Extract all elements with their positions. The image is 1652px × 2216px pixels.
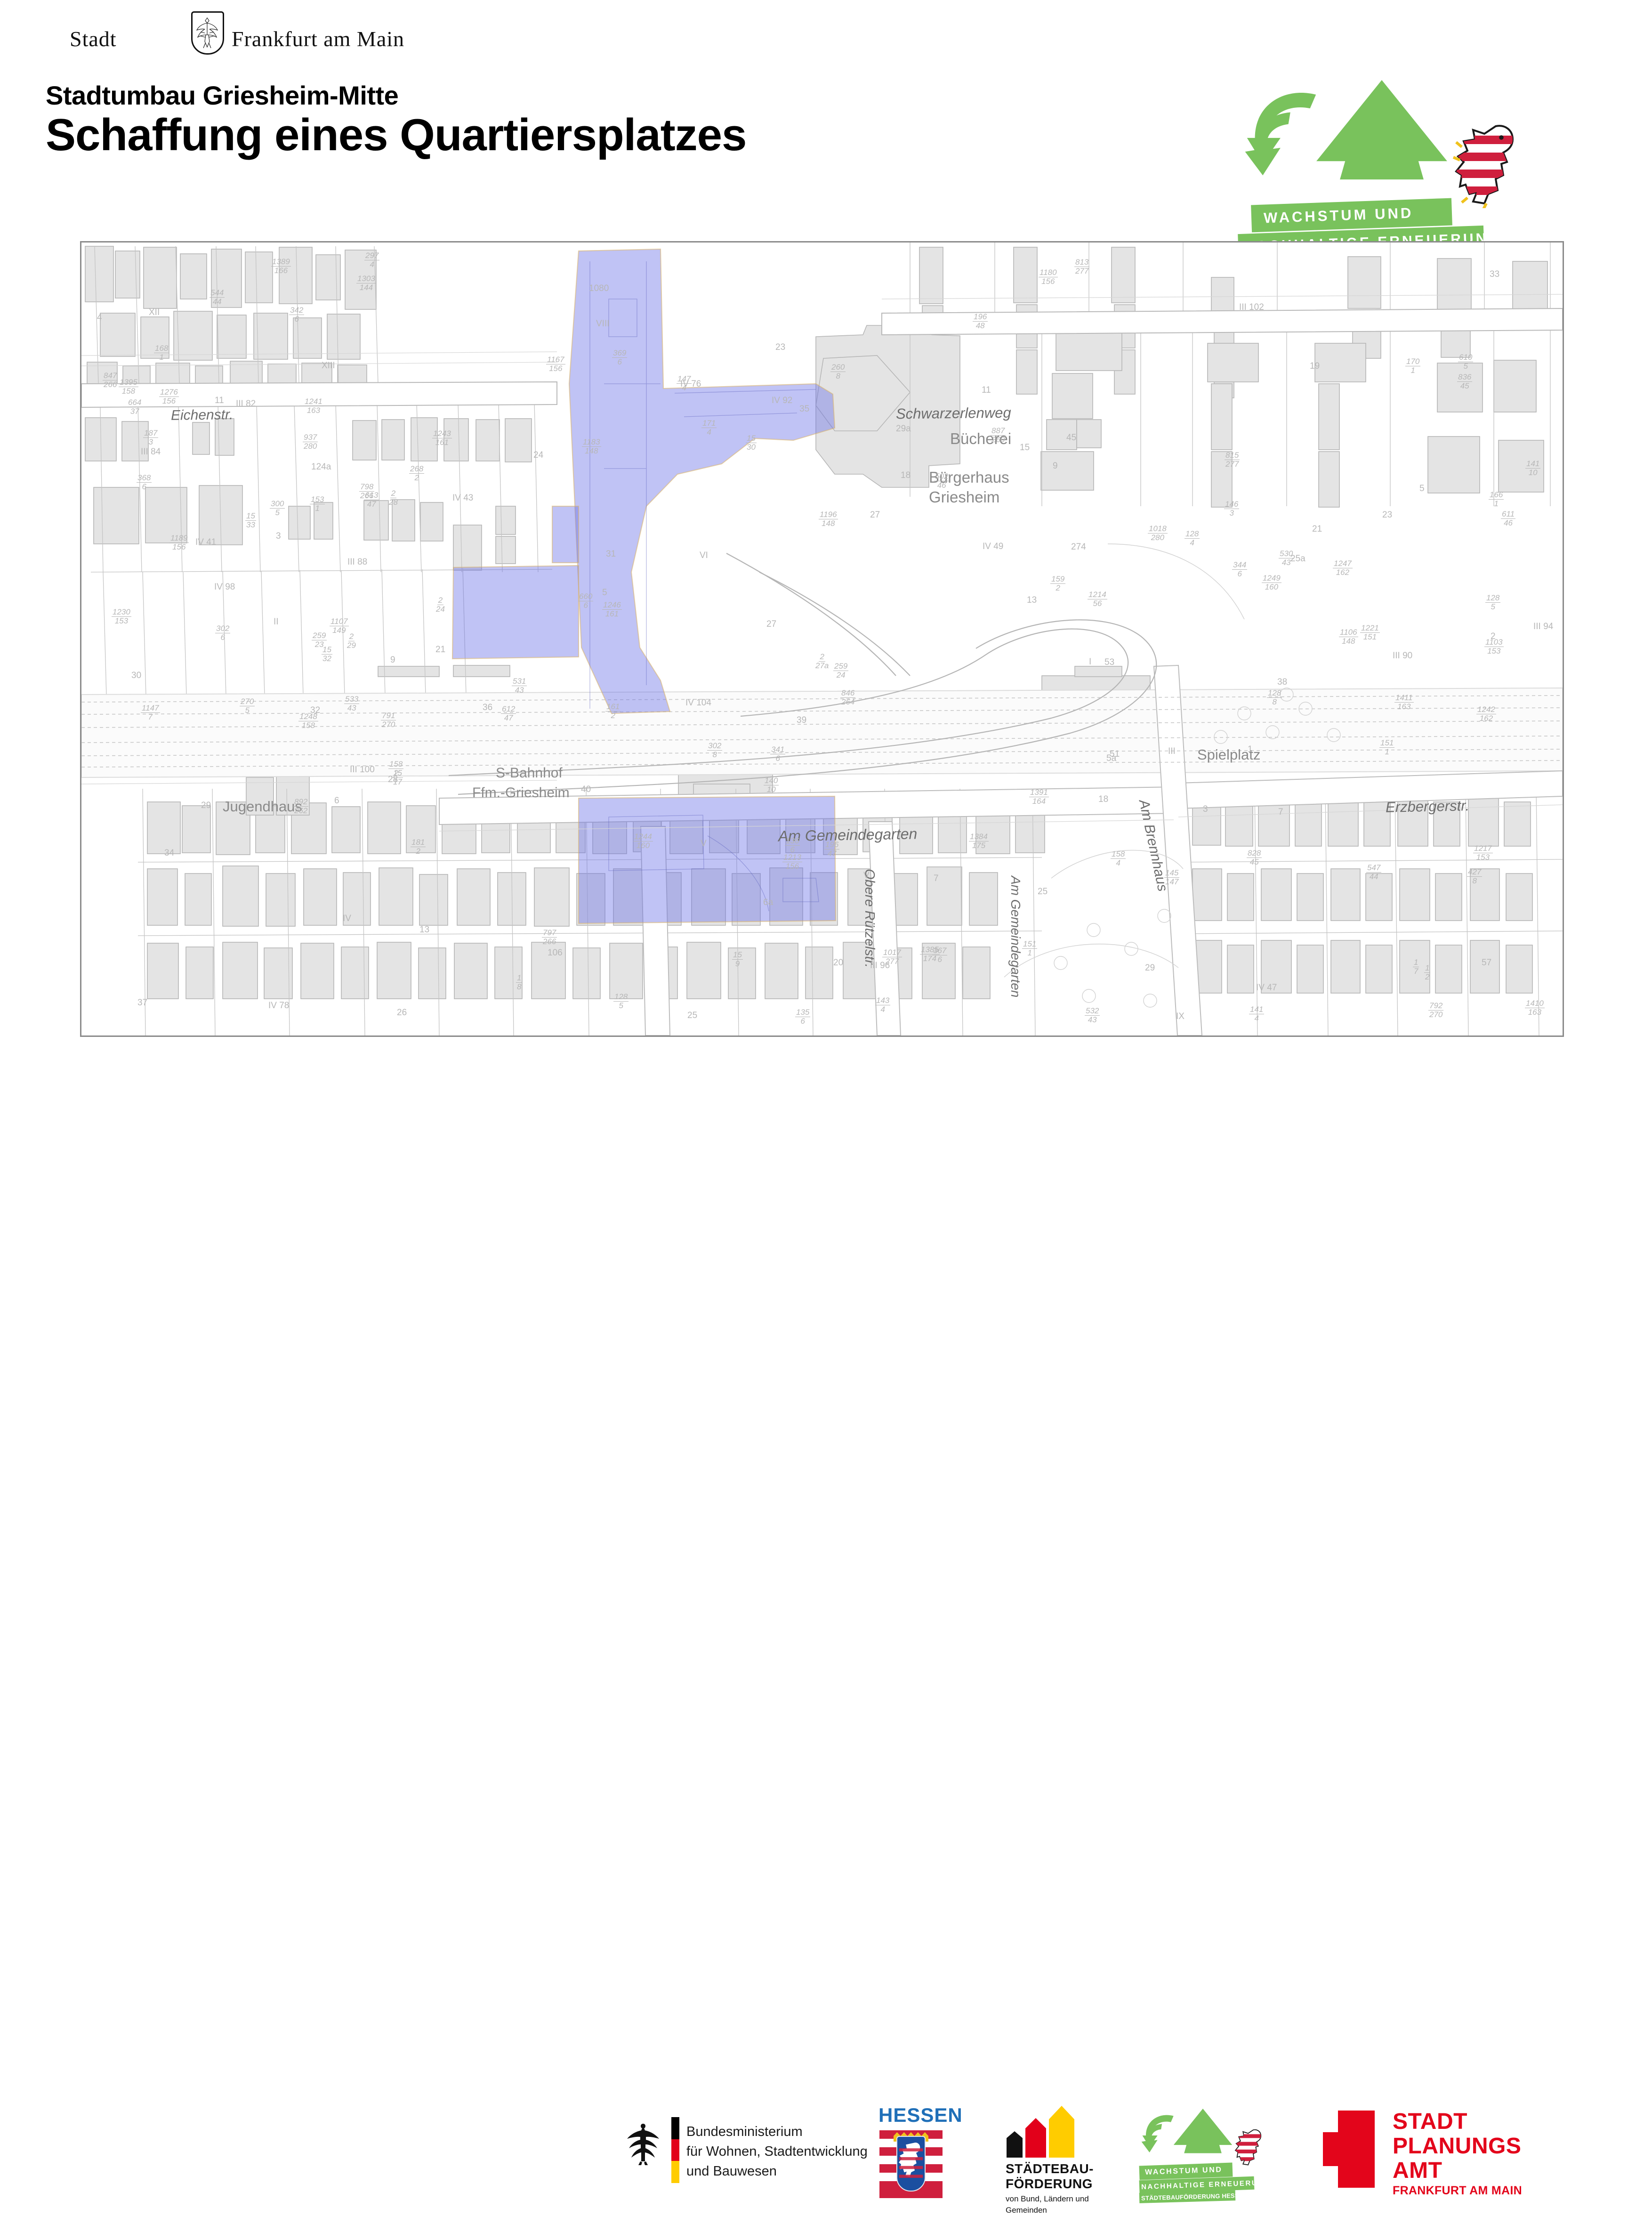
- bmwsb-line-3: und Bauwesen: [686, 2161, 868, 2181]
- wachstum-band-3-footer: STÄDTEBAUFÖRDERUNG HESSEN: [1139, 2190, 1236, 2203]
- house-icon-black: [1007, 2131, 1023, 2158]
- hessen-lion-icon: [1452, 119, 1518, 208]
- hessen-logo: HESSEN: [876, 2104, 970, 2198]
- street-label-erzbergerstr: Erzbergerstr.: [1386, 797, 1470, 816]
- spa-line-1: STADT: [1393, 2109, 1467, 2135]
- spa-line-2: PLANUNGS: [1393, 2133, 1521, 2159]
- stadtplanungsamt-logo: STADT PLANUNGS AMT FRANKFURT AM MAIN: [1323, 2111, 1568, 2200]
- staedtebau-subline: von Bund, Ländern und Gemeinden: [1006, 2193, 1089, 2216]
- staedtebau-sub-1: von Bund, Ländern und: [1006, 2193, 1089, 2205]
- page-title: Schaffung eines Quartiersplatzes: [46, 109, 746, 161]
- stadtplanungsamt-mark-icon: [1323, 2111, 1375, 2188]
- bmwsb-logo: Bundesministerium für Wohnen, Stadtentwi…: [626, 2115, 852, 2186]
- page-header: Stadt Frankfurt am Main Stadtum: [0, 0, 1652, 235]
- bmwsb-line-1: Bundesministerium: [686, 2122, 868, 2142]
- poi-label-spielplatz: Spielplatz: [1197, 746, 1260, 763]
- spa-line-3: AMT: [1393, 2158, 1442, 2184]
- hessen-flag-icon: [879, 2130, 943, 2198]
- poi-label-s-bahnhof: S-Bahnhof: [496, 765, 563, 781]
- federal-eagle-icon: [626, 2122, 660, 2165]
- hessen-lion-icon: [1233, 2127, 1264, 2167]
- street-label-schwarzerlenweg: Schwarzerlenweg: [896, 404, 1011, 423]
- city-logo-word-frankfurt: Frankfurt am Main: [232, 26, 404, 51]
- poi-label-griesheim: Griesheim: [929, 488, 999, 506]
- poi-label-jugendhaus: Jugendhaus: [223, 798, 302, 815]
- wachstum-erneuerung-logo-footer: WACHSTUM UND NACHHALTIGE ERNEUERUNG STÄD…: [1139, 2109, 1276, 2198]
- poi-label-ffm-griesheim: Ffm.-Griesheim: [472, 785, 570, 801]
- poi-label-buergerhaus: Bürgerhaus: [929, 469, 1009, 486]
- city-logo-word-stadt: Stadt: [70, 26, 117, 51]
- green-arrow-up-icon: [1172, 2109, 1233, 2161]
- staedtebau-line-1: STÄDTEBAU-: [1006, 2161, 1094, 2176]
- street-label-am-gemeindegarten: Am Gemeindegarten: [778, 825, 918, 845]
- staedtebaufoerderung-logo: STÄDTEBAU- FÖRDERUNG von Bund, Ländern u…: [1003, 2109, 1111, 2203]
- street-label-obere-ruetzelstr: Obere Rützelstr.: [862, 869, 877, 968]
- hessen-wordmark: HESSEN: [878, 2104, 963, 2127]
- spa-line-4: FRANKFURT AM MAIN: [1393, 2184, 1522, 2198]
- project-subtitle: Stadtumbau Griesheim-Mitte: [46, 80, 398, 111]
- map-drawing: [81, 243, 1563, 1035]
- hessen-shield-icon: [896, 2136, 926, 2192]
- funding-logo-bar: Bundesministerium für Wohnen, Stadtentwi…: [0, 1041, 1652, 1168]
- eagle-glyph: [195, 15, 219, 50]
- green-arrow-up-icon: [1314, 80, 1450, 198]
- cadastral-map[interactable]: Eichenstr. Schwarzerlenweg Am Gemeindega…: [80, 241, 1564, 1037]
- street-label-am-gemeindegarten-vertical: Am Gemeindegarten: [1008, 876, 1023, 997]
- wachstum-erneuerung-logo: WACHSTUM UND NACHHALTIGE ERNEUERUNG STÄD…: [1238, 80, 1539, 268]
- house-icon-red: [1025, 2118, 1046, 2158]
- bmwsb-wordmark: Bundesministerium für Wohnen, Stadtentwi…: [686, 2122, 868, 2181]
- city-of-frankfurt-logo: Stadt Frankfurt am Main: [70, 20, 371, 57]
- frankfurt-eagle-crest-icon: [191, 11, 224, 55]
- street-label-eichenstr: Eichenstr.: [171, 407, 234, 424]
- house-icon-yellow: [1049, 2106, 1074, 2158]
- hessen-lion-glyph: [897, 2137, 925, 2191]
- german-flag-bar: [671, 2117, 679, 2183]
- poi-label-buecherei: Bücherei: [950, 430, 1011, 448]
- bmwsb-line-2: für Wohnen, Stadtentwicklung: [686, 2142, 868, 2161]
- staedtebau-line-2: FÖRDERUNG: [1006, 2176, 1093, 2192]
- staedtebau-sub-2: Gemeinden: [1006, 2205, 1089, 2216]
